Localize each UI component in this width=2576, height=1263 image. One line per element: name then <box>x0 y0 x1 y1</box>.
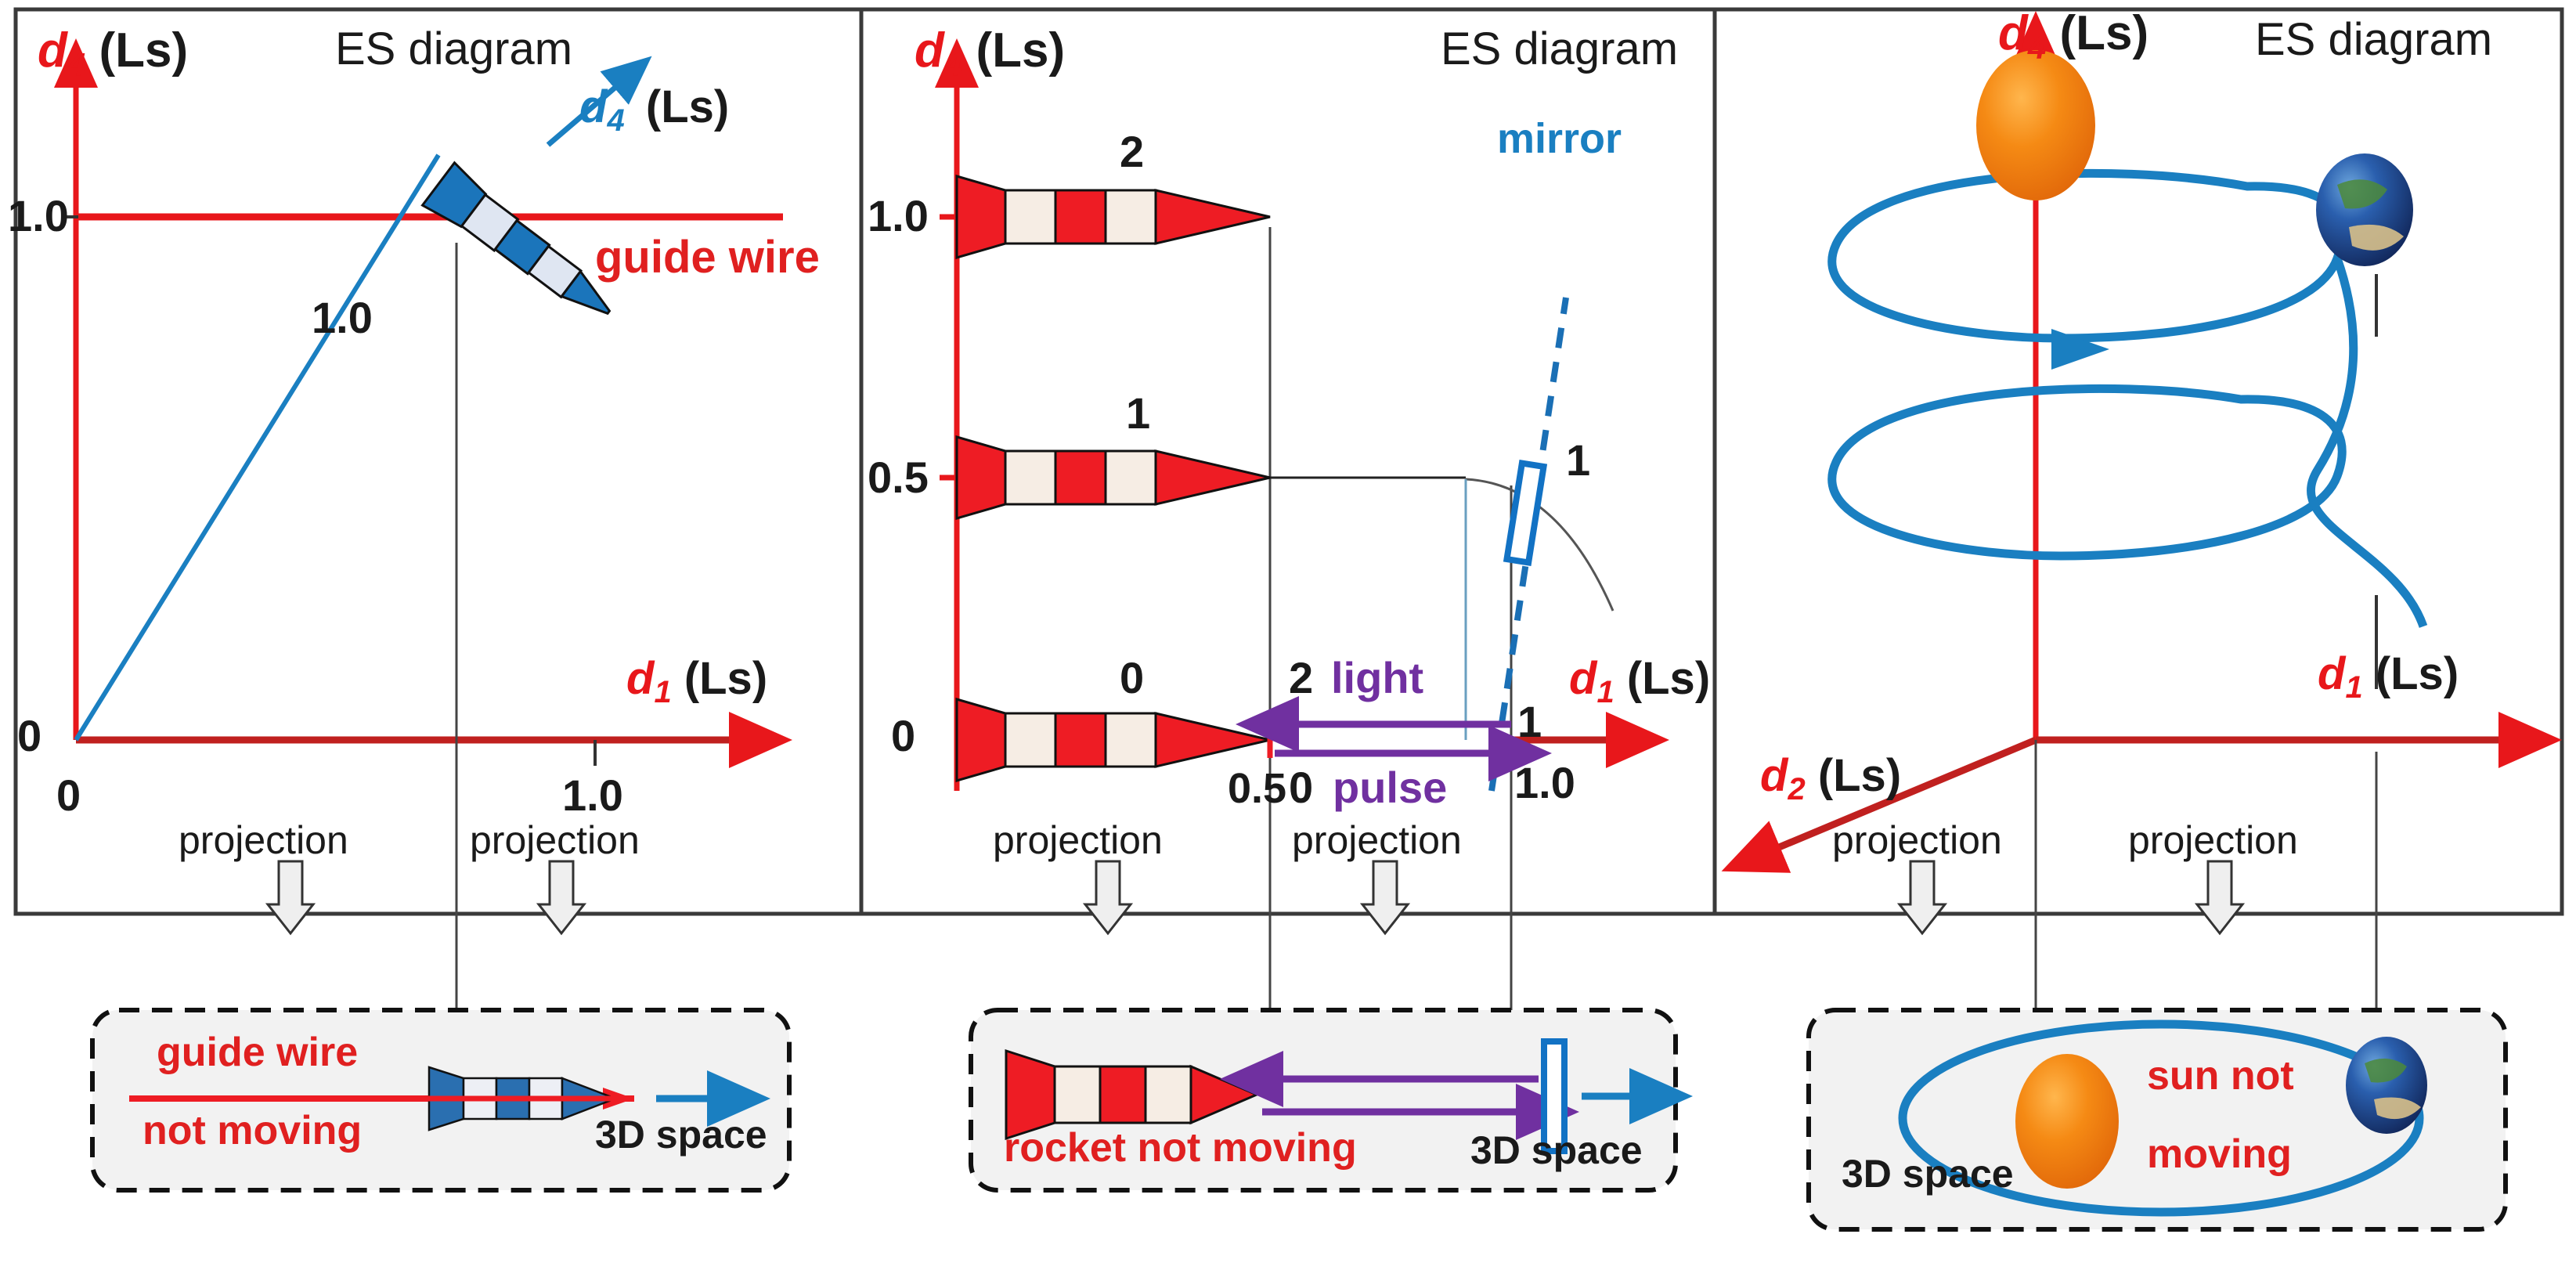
p2-light-counter: 2 <box>1289 656 1313 700</box>
p1-ytick-0: 0 <box>17 714 41 758</box>
p2-ytick-0: 0 <box>891 714 915 758</box>
p3-projection-label-1: projection <box>1832 821 2002 860</box>
p2-projection-label-1: projection <box>993 821 1163 860</box>
p1-xtick-0: 0 <box>56 774 81 817</box>
p3-z-axis-label: d2 (Ls) <box>1760 753 1901 805</box>
p3-callout-earth <box>2346 1037 2427 1134</box>
p1-heading: ES diagram <box>335 27 572 72</box>
p3-projection-label-2: projection <box>2128 821 2298 860</box>
p3-heading: ES diagram <box>2255 17 2492 63</box>
p2-rocket-counter-1: 1 <box>1126 392 1150 435</box>
figure-root: d4 (Ls) ES diagram d4' (Ls) 1.0 guide wi… <box>0 0 2576 1263</box>
p1-callout-line-1: guide wire <box>157 1032 358 1073</box>
p2-mirror-label: mirror <box>1497 117 1622 160</box>
p3-callout-box <box>1809 1010 2506 1229</box>
p3-callout-line-2: moving <box>2147 1134 2292 1175</box>
p2-rocket-counter-0: 0 <box>1120 656 1144 700</box>
p2-x-axis-label: d1 (Ls) <box>1569 656 1710 708</box>
p1-ytick-1: 1.0 <box>8 194 69 238</box>
p2-projection-label-2: projection <box>1292 821 1462 860</box>
p2-xtick-05: 0.5 <box>1228 767 1286 810</box>
p3-callout-line-1: sun not <box>2147 1056 2294 1096</box>
p3-callout-sun <box>2015 1054 2119 1189</box>
p3-sun <box>1976 50 2095 200</box>
p1-x-axis-label: d1 (Ls) <box>626 656 767 708</box>
p2-light-label: light <box>1331 656 1423 700</box>
p2-rocket-counter-2: 2 <box>1120 130 1144 174</box>
p2-mirror-counter: 1 <box>1566 438 1590 482</box>
p3-callout-3d-space: 3D space <box>1842 1154 2014 1193</box>
p2-pulse-end: 1 <box>1517 700 1542 744</box>
p2-y-axis-label: d4 (Ls) <box>915 27 1065 81</box>
p2-pulse-label: pulse <box>1333 766 1447 810</box>
p1-y-axis-label: d4 (Ls) <box>38 27 188 81</box>
p3-y-axis-label: d4 (Ls) <box>1998 9 2148 64</box>
p1-callout-3d-space: 3D space <box>595 1115 767 1154</box>
p1-projection-label-1: projection <box>179 821 348 860</box>
p1-rocket-tick: 1.0 <box>312 296 373 340</box>
p2-callout-line-1: rocket not moving <box>1004 1128 1357 1168</box>
p2-ytick-1: 1.0 <box>868 194 929 238</box>
p2-pulse-start: 0 <box>1289 766 1313 810</box>
p2-xtick-1: 1.0 <box>1514 761 1575 805</box>
p2-heading: ES diagram <box>1441 27 1678 72</box>
p1-guide-wire-label: guide wire <box>595 235 820 280</box>
p1-callout-line-2: not moving <box>143 1110 362 1151</box>
p1-d4-prime-label: d4' (Ls) <box>579 85 729 136</box>
p1-xtick-1: 1.0 <box>562 774 623 817</box>
p1-projection-label-2: projection <box>470 821 640 860</box>
p2-ytick-05: 0.5 <box>868 456 929 500</box>
p3-x-axis-label: d1 (Ls) <box>2318 651 2459 703</box>
p2-callout-3d-space: 3D space <box>1470 1131 1643 1170</box>
